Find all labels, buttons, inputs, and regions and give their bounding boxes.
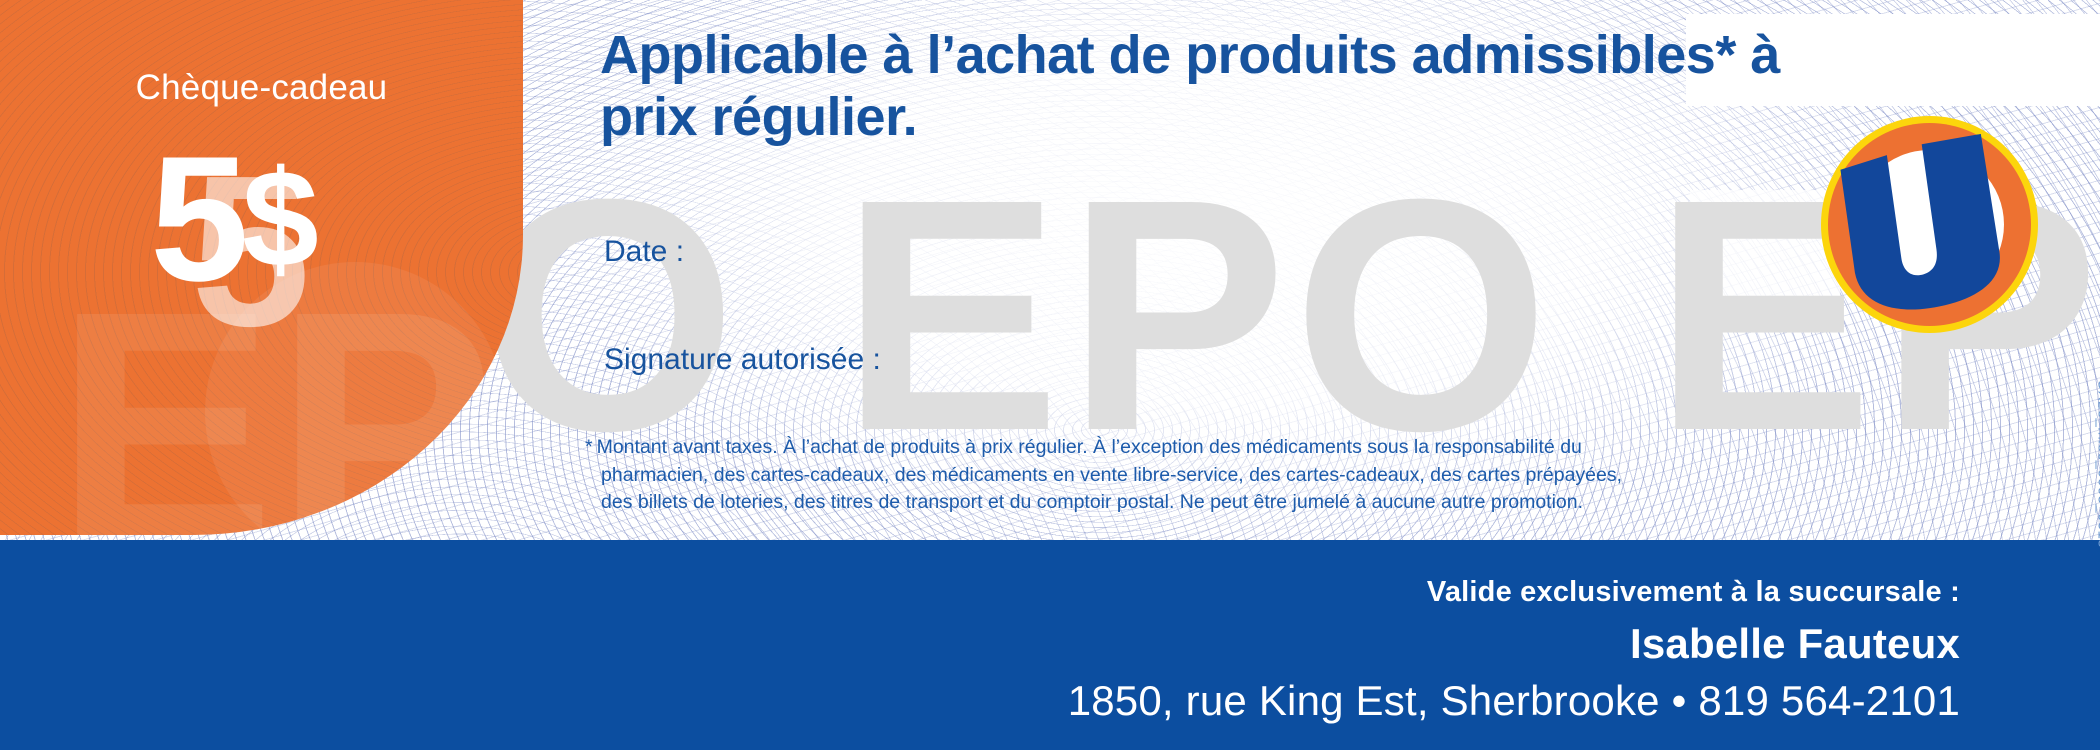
footer-validity-label: Valide exclusivement à la succursale : (1427, 576, 1960, 609)
date-field-label: Date : (604, 235, 684, 269)
uniprix-logo (1821, 116, 2038, 333)
logo-u-icon (1832, 131, 2025, 319)
legal-line-3: des billets de loteries, des titres de t… (585, 489, 1715, 517)
footer-bar: Valide exclusivement à la succursale : I… (0, 540, 2100, 750)
amount-value: 5$ (150, 130, 319, 308)
legal-asterisk: * (585, 436, 593, 458)
legal-line-1-text: Montant avant taxes. À l’achat de produi… (597, 436, 1582, 458)
cheque-cadeau-label: Chèque-cadeau (0, 68, 523, 108)
amount-number: 5 (150, 119, 242, 318)
gift-certificate: EPO EPO EPO EPO EPO EPO Chèque-cadeau 5 … (0, 0, 2100, 750)
signature-field-label: Signature autorisée : (604, 343, 881, 377)
headline: Applicable à l’achat de produits admissi… (600, 25, 1780, 148)
legal-line-1: *Montant avant taxes. À l’achat de produ… (585, 434, 1715, 462)
footer-store-name: Isabelle Fauteux (1630, 620, 1960, 668)
legal-fine-print: *Montant avant taxes. À l’achat de produ… (585, 434, 1715, 517)
footer-store-address: 1850, rue King Est, Sherbrooke • 819 564… (1068, 677, 1960, 725)
legal-line-2: pharmacien, des cartes-cadeaux, des médi… (585, 462, 1715, 490)
amount-currency: $ (242, 142, 319, 296)
reference-code: UX20_mloc_0003_0013 (2095, 379, 2100, 548)
